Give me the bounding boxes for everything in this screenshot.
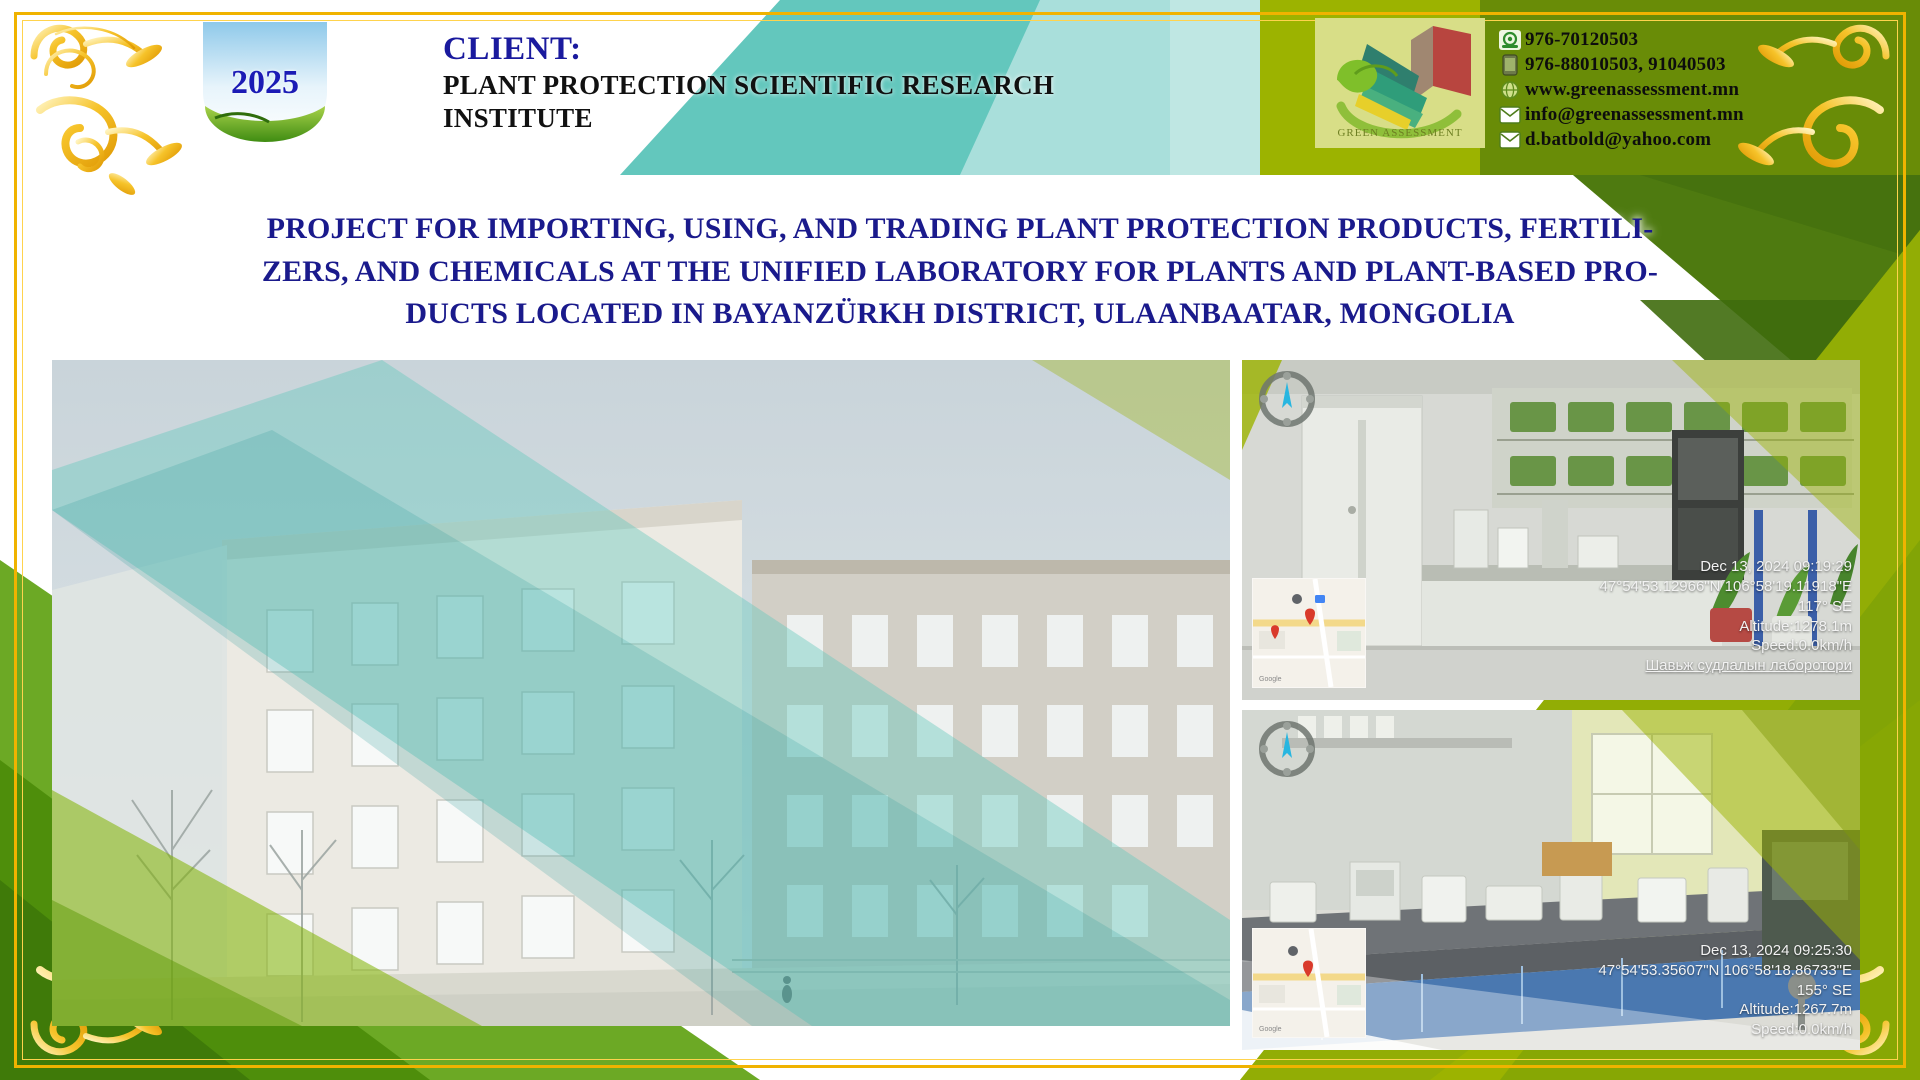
contact-text: 976-88010503, 91040503 [1525, 54, 1726, 76]
poster-root: 2025 CLIENT: PLANT PROTECTION SCIENTIFIC… [0, 0, 1920, 1080]
client-block: CLIENT: PLANT PROTECTION SCIENTIFIC RESE… [443, 30, 1183, 135]
contact-row: d.batbold@yahoo.com [1495, 128, 1895, 151]
svg-text:Google: Google [1259, 676, 1282, 683]
year-badge-text: 2025 [185, 64, 345, 102]
gps-altitude: Altitude:1278.1m [1600, 617, 1852, 637]
gps-place-name: Шавьж судлалын лаборотори [1600, 656, 1852, 676]
telephone-icon [1495, 29, 1525, 51]
gps-overlay-1: Dec 13, 2024 09:19:29 47°54'53.12966"N 1… [1600, 557, 1852, 676]
gps-bearing: 155° SE [1598, 981, 1852, 1001]
poster-header: 2025 CLIENT: PLANT PROTECTION SCIENTIFIC… [0, 0, 1920, 168]
contact-row: 976-70120503 [1495, 28, 1895, 51]
contact-text: www.greenassessment.mn [1525, 79, 1739, 101]
email-icon [1495, 129, 1525, 151]
contact-text: d.batbold@yahoo.com [1525, 129, 1711, 151]
contact-text: 976-70120503 [1525, 29, 1638, 51]
contact-row: info@greenassessment.mn [1495, 103, 1895, 126]
institute-building-photo [52, 360, 1230, 1026]
compass-widget-icon [1256, 368, 1318, 430]
map-inset[interactable]: Google [1252, 928, 1366, 1038]
gps-coordinates: 47°54'53.12966"N 106°58'19.11918"E [1600, 577, 1852, 597]
svg-text:GREEN ASSESSMENT: GREEN ASSESSMENT [1337, 127, 1462, 139]
map-inset[interactable]: Google [1252, 578, 1366, 688]
gps-speed: Speed:0.0km/h [1598, 1020, 1852, 1040]
contact-row: 976-88010503, 91040503 [1495, 53, 1895, 76]
gps-coordinates: 47°54'53.35607"N 106°58'18.86733"E [1598, 961, 1852, 981]
gps-bearing: 117° SE [1600, 597, 1852, 617]
gps-altitude: Altitude:1267.7m [1598, 1000, 1852, 1020]
client-name-line1: PLANT PROTECTION SCIENTIFIC RESEARCH [443, 69, 1183, 102]
website-icon [1495, 79, 1525, 101]
project-title-line1: PROJECT FOR IMPORTING, USING, AND TRADIN… [60, 208, 1860, 251]
svg-text:Google: Google [1259, 1026, 1282, 1033]
contact-row: www.greenassessment.mn [1495, 78, 1895, 101]
laboratory-photo-1: Google Dec 13, 2024 09:19:29 47°54'53.12… [1242, 360, 1860, 700]
client-label: CLIENT: [443, 30, 1183, 69]
project-title-line3: DUCTS LOCATED IN BAYANZÜRKH DISTRICT, UL… [60, 293, 1860, 336]
gps-timestamp: Dec 13, 2024 09:25:30 [1598, 941, 1852, 961]
client-name-line2: INSTITUTE [443, 102, 1183, 135]
gps-timestamp: Dec 13, 2024 09:19:29 [1600, 557, 1852, 577]
contact-text: info@greenassessment.mn [1525, 104, 1744, 126]
gps-speed: Speed:0.0km/h [1600, 636, 1852, 656]
gps-overlay-2: Dec 13, 2024 09:25:30 47°54'53.35607"N 1… [1598, 941, 1852, 1040]
contacts-list: 976-70120503 976-88010503, 91040503 www.… [1495, 28, 1895, 153]
project-title: PROJECT FOR IMPORTING, USING, AND TRADIN… [60, 208, 1860, 336]
year-badge: 2025 [185, 22, 345, 147]
green-assessment-logo-icon: GREEN ASSESSMENT [1315, 18, 1485, 148]
email-icon [1495, 104, 1525, 126]
compass-widget-icon [1256, 718, 1318, 780]
mobile-phone-icon [1495, 54, 1525, 76]
project-title-line2: ZERS, AND CHEMICALS AT THE UNIFIED LABOR… [60, 251, 1860, 294]
laboratory-photo-2: Google Dec 13, 2024 09:25:30 47°54'53.35… [1242, 710, 1860, 1050]
